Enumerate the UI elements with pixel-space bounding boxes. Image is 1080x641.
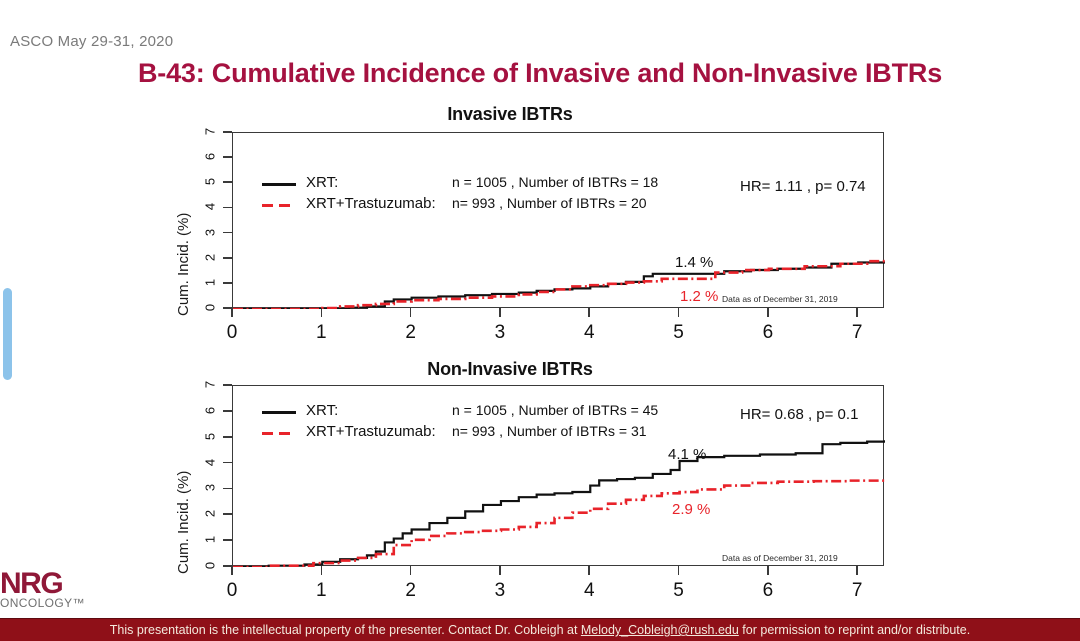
legend-label-xrt: XRT:: [306, 402, 338, 419]
legend-label-xrt: XRT:: [306, 174, 338, 191]
y-tick-label: 5: [203, 428, 218, 444]
y-tick-label: 0: [203, 558, 218, 574]
y-tick-mark: [223, 488, 232, 490]
y-tick-mark: [223, 181, 232, 183]
legend-stats-xrt: n = 1005 , Number of IBTRs = 18: [452, 174, 658, 190]
endpoint-label-xrt-invasive: 1.4 %: [675, 254, 713, 271]
legend-line-dashed-icon: [262, 204, 296, 207]
x-tick-label: 4: [577, 322, 601, 344]
y-tick-mark: [223, 539, 232, 541]
x-tick-mark: [856, 308, 858, 317]
legend-stats-xrt: n = 1005 , Number of IBTRs = 45: [452, 402, 658, 418]
footer-text-after: for permission to reprint and/or distrib…: [739, 623, 970, 637]
y-tick-label: 6: [203, 402, 218, 418]
chart-title-invasive: Invasive IBTRs: [0, 104, 1050, 125]
x-tick-mark: [588, 308, 590, 317]
x-tick-mark: [767, 566, 769, 575]
x-tick-label: 1: [309, 322, 333, 344]
x-tick-mark: [321, 566, 323, 575]
footer-bar: This presentation is the intellectual pr…: [0, 618, 1080, 641]
endpoint-label-xrt-noninvasive: 4.1 %: [668, 446, 706, 463]
y-tick-label: 4: [203, 454, 218, 470]
y-tick-mark: [223, 207, 232, 209]
legend-line-dashed-icon: [262, 432, 296, 435]
nrg-oncology-logo: NRG ONCOLOGY™: [0, 570, 85, 610]
x-tick-label: 6: [756, 580, 780, 602]
x-tick-label: 2: [399, 580, 423, 602]
footer-text: This presentation is the intellectual pr…: [110, 623, 970, 637]
y-tick-label: 4: [203, 199, 218, 215]
y-tick-label: 0: [203, 300, 218, 316]
y-tick-label: 7: [203, 377, 218, 393]
y-tick-label: 6: [203, 149, 218, 165]
x-tick-label: 7: [845, 322, 869, 344]
y-tick-label: 1: [203, 274, 218, 290]
y-axis-label-noninvasive: Cum. Incid. (%): [175, 471, 192, 574]
x-tick-mark: [499, 308, 501, 317]
y-tick-label: 5: [203, 174, 218, 190]
nrg-subtitle: ONCOLOGY™: [0, 597, 85, 610]
y-tick-label: 2: [203, 506, 218, 522]
legend-line-solid-icon: [262, 183, 296, 186]
curve-xrt: [233, 440, 885, 567]
y-tick-mark: [223, 384, 232, 386]
y-axis-label-invasive: Cum. Incid. (%): [175, 213, 192, 316]
hr-pvalue-noninvasive: HR= 0.68 , p= 0.1: [740, 406, 858, 423]
y-tick-mark: [223, 156, 232, 158]
x-tick-mark: [767, 308, 769, 317]
endpoint-label-xrt-trastuzumab-invasive: 1.2 %: [680, 288, 718, 305]
legend-label-xrt-trastuzumab: XRT+Trastuzumab:: [306, 423, 436, 440]
x-tick-label: 3: [488, 322, 512, 344]
data-as-of-note-invasive: Data as of December 31, 2019: [722, 294, 838, 304]
x-tick-label: 5: [667, 580, 691, 602]
y-tick-mark: [223, 462, 232, 464]
y-tick-label: 3: [203, 224, 218, 240]
x-tick-mark: [410, 308, 412, 317]
y-tick-label: 3: [203, 480, 218, 496]
y-tick-label: 7: [203, 124, 218, 140]
x-tick-mark: [231, 566, 233, 575]
data-as-of-note-noninvasive: Data as of December 31, 2019: [722, 553, 838, 563]
y-tick-mark: [223, 131, 232, 133]
page-title: B-43: Cumulative Incidence of Invasive a…: [0, 58, 1080, 89]
chart-panel-invasive: Invasive IBTRs Cum. Incid. (%) 01234567 …: [0, 104, 1080, 354]
endpoint-label-xrt-trastuzumab-noninvasive: 2.9 %: [672, 501, 710, 518]
x-tick-mark: [321, 308, 323, 317]
x-tick-label: 1: [309, 580, 333, 602]
slide-root: ASCO May 29-31, 2020 B-43: Cumulative In…: [0, 0, 1080, 641]
y-tick-mark: [223, 513, 232, 515]
y-tick-mark: [223, 257, 232, 259]
y-tick-mark: [223, 436, 232, 438]
x-tick-label: 5: [667, 322, 691, 344]
chart-panel-noninvasive: Non-Invasive IBTRs Cum. Incid. (%) 01234…: [0, 359, 1080, 614]
y-tick-mark: [223, 232, 232, 234]
curves-invasive: [233, 133, 885, 309]
x-tick-mark: [678, 308, 680, 317]
x-tick-mark: [588, 566, 590, 575]
y-tick-mark: [223, 410, 232, 412]
x-tick-mark: [410, 566, 412, 575]
plot-area-invasive: [232, 132, 884, 308]
hr-pvalue-invasive: HR= 1.11 , p= 0.74: [740, 178, 866, 195]
legend-label-xrt-trastuzumab: XRT+Trastuzumab:: [306, 195, 436, 212]
y-tick-label: 1: [203, 532, 218, 548]
y-tick-label: 2: [203, 249, 218, 265]
legend-stats-xrt-trastuzumab: n= 993 , Number of IBTRs = 31: [452, 423, 647, 439]
y-tick-mark: [223, 282, 232, 284]
x-tick-label: 3: [488, 580, 512, 602]
x-tick-mark: [678, 566, 680, 575]
x-tick-mark: [231, 308, 233, 317]
footer-text-before: This presentation is the intellectual pr…: [110, 623, 581, 637]
conference-line: ASCO May 29-31, 2020: [10, 33, 173, 50]
x-tick-label: 4: [577, 580, 601, 602]
x-tick-label: 2: [399, 322, 423, 344]
x-tick-mark: [499, 566, 501, 575]
nrg-wordmark: NRG: [0, 570, 85, 598]
x-tick-mark: [856, 566, 858, 575]
x-tick-label: 7: [845, 580, 869, 602]
footer-email-link[interactable]: Melody_Cobleigh@rush.edu: [581, 623, 739, 637]
x-tick-label: 6: [756, 322, 780, 344]
x-tick-label: 0: [220, 580, 244, 602]
legend-stats-xrt-trastuzumab: n= 993 , Number of IBTRs = 20: [452, 195, 647, 211]
chart-title-noninvasive: Non-Invasive IBTRs: [0, 359, 1050, 380]
x-tick-label: 0: [220, 322, 244, 344]
legend-line-solid-icon: [262, 411, 296, 414]
